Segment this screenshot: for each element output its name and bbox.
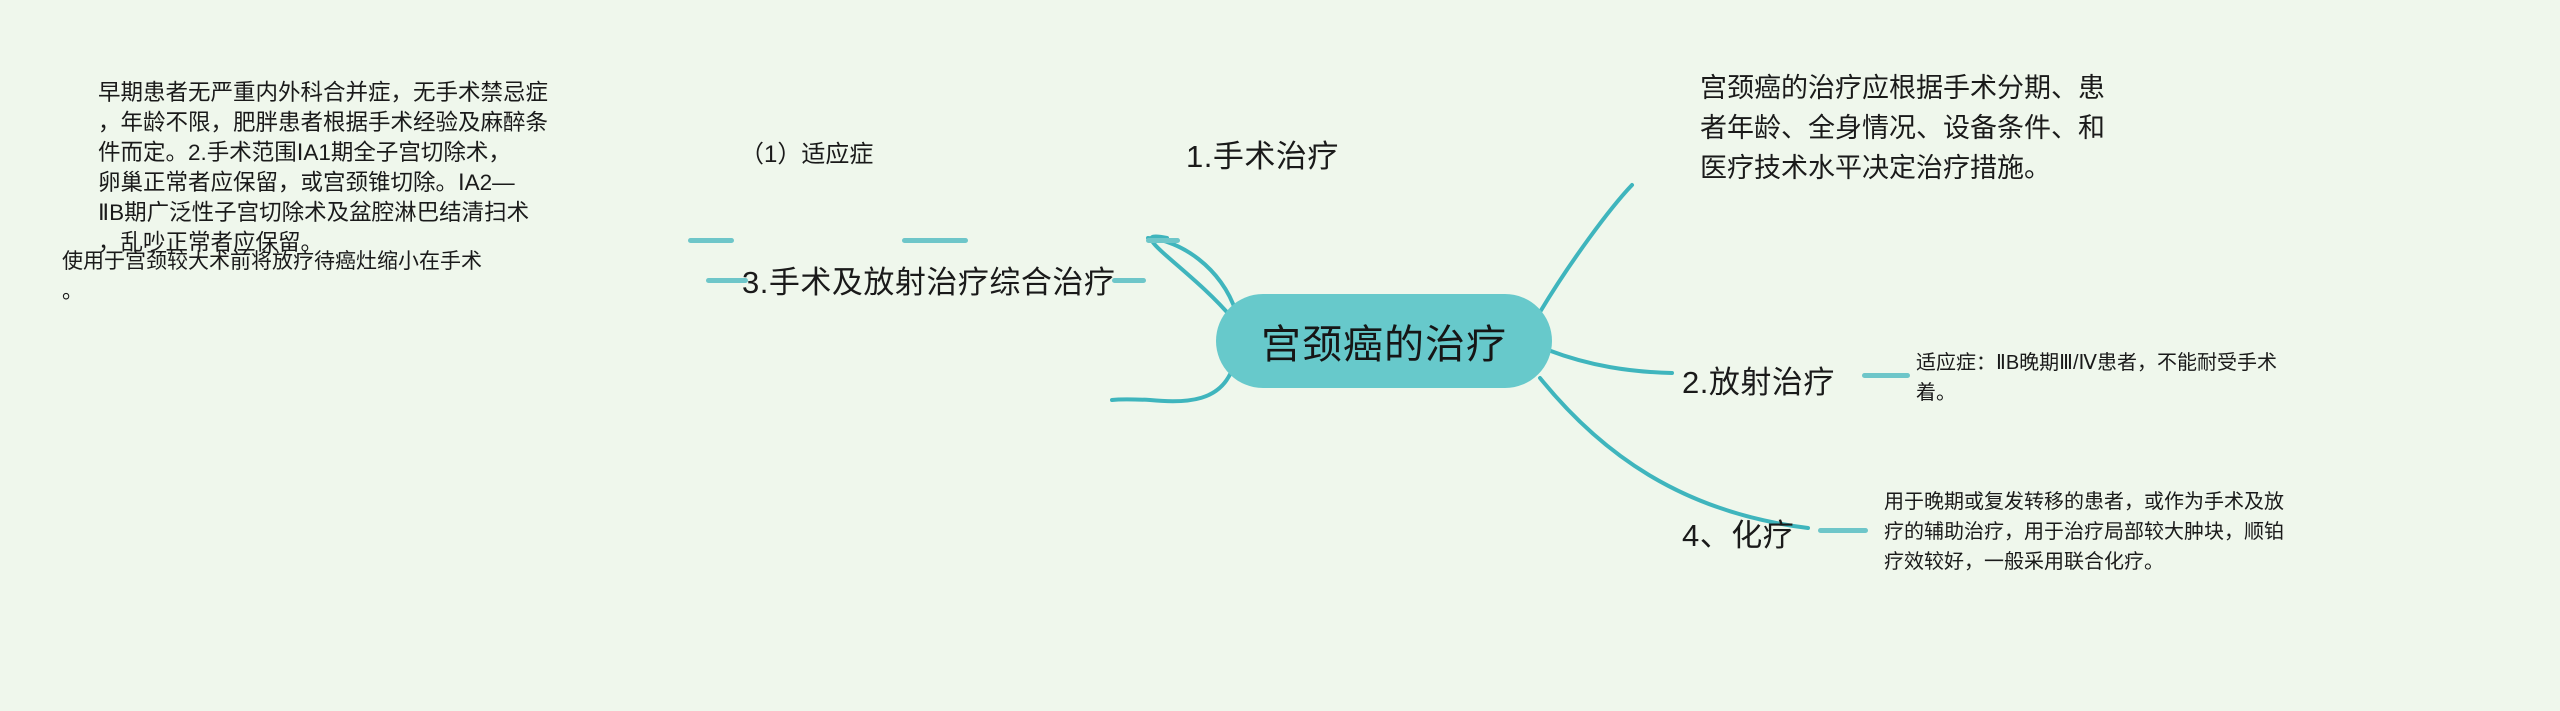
wire-to-combined (1112, 370, 1232, 401)
note-line: 。 (62, 277, 482, 307)
note-line: 医疗技术水平决定治疗措施。 (1700, 148, 2105, 188)
note-line: 件而定。2.手术范围ⅠA1期全子宫切除术， (98, 138, 548, 168)
note-line: 卵巢正常者应保留，或宫颈锥切除。ⅠA2— (98, 168, 548, 198)
branch-label-radiation[interactable]: 2.放射治疗 (1682, 357, 1835, 402)
wire-to-surgery-main (1148, 238, 1236, 312)
central-topic-node[interactable]: 宫颈癌的治疗 (1216, 294, 1552, 388)
note-combined-detail[interactable]: 使用于宫颈较大术前将放疗待癌灶缩小在手术 。 (62, 247, 482, 307)
connector-dash-indication-right (902, 238, 968, 243)
subtopic-label-indication[interactable]: （1）适应症 (740, 134, 873, 169)
branch-label-surgery[interactable]: 1.手术治疗 (1186, 131, 1339, 176)
note-line: ，年龄不限，肥胖患者根据手术经验及麻醉条 (98, 108, 548, 138)
branch-label-chemo[interactable]: 4、化疗 (1682, 510, 1794, 555)
note-line: 早期患者无严重内外科合并症，无手术禁忌症 (98, 78, 548, 108)
connector-dash-surgery-tail (1146, 238, 1180, 243)
note-overview[interactable]: 宫颈癌的治疗应根据手术分期、患 者年龄、全身情况、设备条件、和 医疗技术水平决定… (1700, 68, 2105, 188)
connector-dash-indication-left (688, 238, 734, 243)
wire-to-radiation (1548, 350, 1672, 373)
note-line: 适应症：ⅡB晚期Ⅲ/Ⅳ患者，不能耐受手术 (1916, 348, 2277, 378)
note-line: ⅡB期广泛性子宫切除术及盆腔淋巴结清扫术 (98, 198, 548, 228)
note-line: 者年龄、全身情况、设备条件、和 (1700, 108, 2105, 148)
central-topic-label: 宫颈癌的治疗 (1261, 312, 1507, 370)
wire-to-surgery (1151, 236, 1232, 318)
note-surgery-detail[interactable]: 早期患者无严重内外科合并症，无手术禁忌症 ，年龄不限，肥胖患者根据手术经验及麻醉… (98, 78, 548, 258)
note-radiation-detail[interactable]: 适应症：ⅡB晚期Ⅲ/Ⅳ患者，不能耐受手术 着。 (1916, 348, 2277, 408)
branch-label-combined[interactable]: 3.手术及放射治疗综合治疗 (742, 257, 1115, 302)
connector-dash-combined-right (1112, 278, 1146, 283)
mindmap-canvas: 宫颈癌的治疗 1.手术治疗 2.放射治疗 3.手术及放射治疗综合治疗 4、化疗 … (0, 0, 2560, 711)
connector-dash-chemo-right (1818, 528, 1868, 533)
note-line: 疗效较好，一般采用联合化疗。 (1884, 547, 2284, 577)
note-line: 使用于宫颈较大术前将放疗待癌灶缩小在手术 (62, 247, 482, 277)
note-line: 用于晚期或复发转移的患者，或作为手术及放 (1884, 487, 2284, 517)
wire-to-overview (1540, 185, 1632, 312)
note-chemo-detail[interactable]: 用于晚期或复发转移的患者，或作为手术及放 疗的辅助治疗，用于治疗局部较大肿块，顺… (1884, 487, 2284, 577)
note-line: 着。 (1916, 378, 2277, 408)
note-line: 宫颈癌的治疗应根据手术分期、患 (1700, 68, 2105, 108)
note-line: 疗的辅助治疗，用于治疗局部较大肿块，顺铂 (1884, 517, 2284, 547)
connector-dash-radiation-right (1862, 373, 1910, 378)
